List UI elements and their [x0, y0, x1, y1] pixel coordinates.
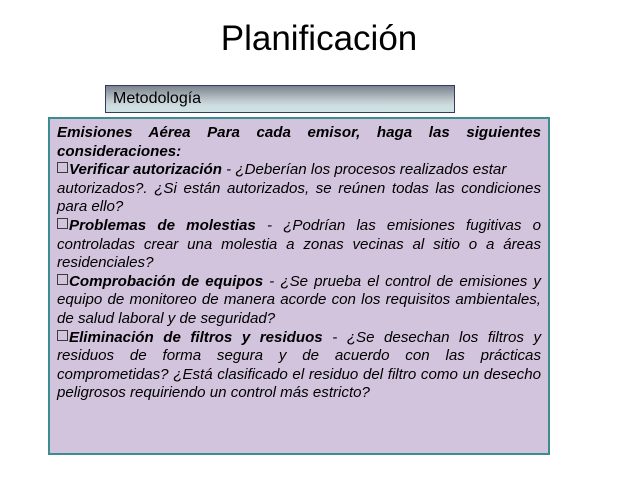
- bullet-dash: -: [323, 329, 347, 346]
- lead-paragraph: Emisiones Aérea Para cada emisor, haga l…: [57, 124, 541, 161]
- slide: Planificación Metodología Emisiones Aére…: [0, 0, 638, 479]
- bullet-dash: -: [263, 273, 280, 290]
- subtitle-label: Metodología: [106, 90, 201, 108]
- bullet-term: Comprobación de equipos: [69, 273, 263, 290]
- bullet-dash: -: [222, 161, 235, 178]
- content-box: Emisiones Aérea Para cada emisor, haga l…: [48, 117, 550, 455]
- empty-square-icon: [57, 162, 68, 173]
- bullet-item-verificar-autorizacion-cont: autorizados?. ¿Si están autorizados, se …: [57, 180, 541, 217]
- bullet-item-eliminacion-de-filtros-y-residuos: Eliminación de filtros y residuos - ¿Se …: [57, 329, 541, 403]
- bullet-item-verificar-autorizacion: Verificar autorización - ¿Deberían los p…: [57, 161, 541, 180]
- bullet-question: ¿Deberían los procesos realizados estar: [235, 161, 506, 178]
- bullet-item-problemas-de-molestias: Problemas de molestias - ¿Podrían las em…: [57, 217, 541, 273]
- page-title: Planificación: [0, 18, 638, 60]
- subtitle-banner: Metodología: [105, 85, 455, 113]
- bullet-term: Verificar autorización: [69, 161, 222, 178]
- bullet-question-cont: autorizados?. ¿Si están autorizados, se …: [57, 180, 541, 216]
- empty-square-icon: [57, 218, 68, 229]
- empty-square-icon: [57, 330, 68, 341]
- bullet-term: Eliminación de filtros y residuos: [69, 329, 323, 346]
- bullet-term: Problemas de molestias: [69, 217, 256, 234]
- bullet-item-comprobacion-de-equipos: Comprobación de equipos - ¿Se prueba el …: [57, 273, 541, 329]
- bullet-dash: -: [256, 217, 283, 234]
- empty-square-icon: [57, 274, 68, 285]
